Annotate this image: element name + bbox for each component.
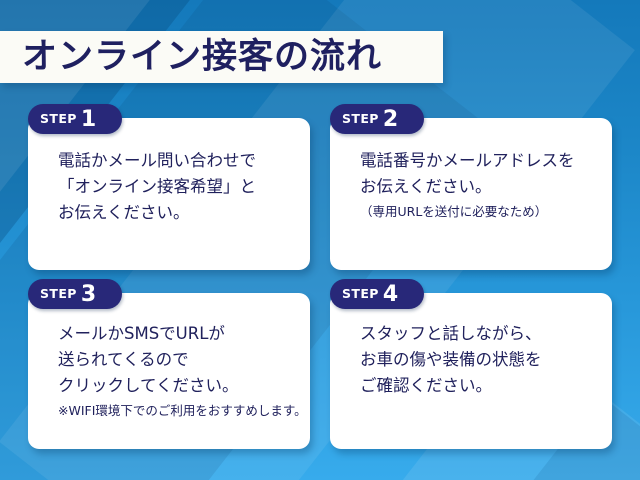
step-badge-1: STEP 1 bbox=[28, 104, 122, 134]
step-card-4: STEP 4 スタッフと話しながら、 お車の傷や装備の状態を ご確認ください。 bbox=[330, 293, 612, 449]
step-badge-label: STEP bbox=[342, 288, 379, 301]
title-banner: オンライン接客の流れ bbox=[0, 31, 443, 83]
step-card-3-body: メールかSMSでURLが 送られてくるので クリックしてください。 ※WIFI環… bbox=[28, 293, 310, 421]
step-badge-number: 2 bbox=[383, 109, 398, 131]
step-note: ※WIFI環境下でのご利用をおすすめします。 bbox=[58, 401, 310, 421]
step-text-line: ご確認ください。 bbox=[360, 373, 612, 399]
page-title: オンライン接客の流れ bbox=[22, 40, 382, 75]
step-text-line: スタッフと話しながら、 bbox=[360, 321, 612, 347]
step-badge-4: STEP 4 bbox=[330, 279, 424, 309]
step-badge-number: 4 bbox=[383, 284, 398, 306]
step-badge-number: 1 bbox=[81, 109, 96, 131]
step-text-line: お伝えください。 bbox=[58, 200, 310, 226]
step-text-line: メールかSMSでURLが bbox=[58, 321, 310, 347]
step-badge-label: STEP bbox=[40, 113, 77, 126]
step-text-line: 送られてくるので bbox=[58, 347, 310, 373]
step-text-line: 電話かメール問い合わせで bbox=[58, 148, 310, 174]
step-badge-3: STEP 3 bbox=[28, 279, 122, 309]
step-text-line: お車の傷や装備の状態を bbox=[360, 347, 612, 373]
step-note: （専用URLを送付に必要なため） bbox=[360, 202, 612, 222]
step-badge-number: 3 bbox=[81, 284, 96, 306]
step-card-2: STEP 2 電話番号かメールアドレスを お伝えください。 （専用URLを送付に… bbox=[330, 118, 612, 270]
step-card-3: STEP 3 メールかSMSでURLが 送られてくるので クリックしてください。… bbox=[28, 293, 310, 449]
step-badge-label: STEP bbox=[40, 288, 77, 301]
step-text-line: 「オンライン接客希望」と bbox=[58, 174, 310, 200]
step-text-line: お伝えください。 bbox=[360, 174, 612, 200]
step-text-line: 電話番号かメールアドレスを bbox=[360, 148, 612, 174]
step-badge-2: STEP 2 bbox=[330, 104, 424, 134]
step-card-1: STEP 1 電話かメール問い合わせで 「オンライン接客希望」と お伝えください… bbox=[28, 118, 310, 270]
step-text-line: クリックしてください。 bbox=[58, 373, 310, 399]
step-badge-label: STEP bbox=[342, 113, 379, 126]
step-card-1-body: 電話かメール問い合わせで 「オンライン接客希望」と お伝えください。 bbox=[28, 118, 310, 226]
infographic-canvas: オンライン接客の流れ STEP 1 電話かメール問い合わせで 「オンライン接客希… bbox=[0, 0, 640, 480]
